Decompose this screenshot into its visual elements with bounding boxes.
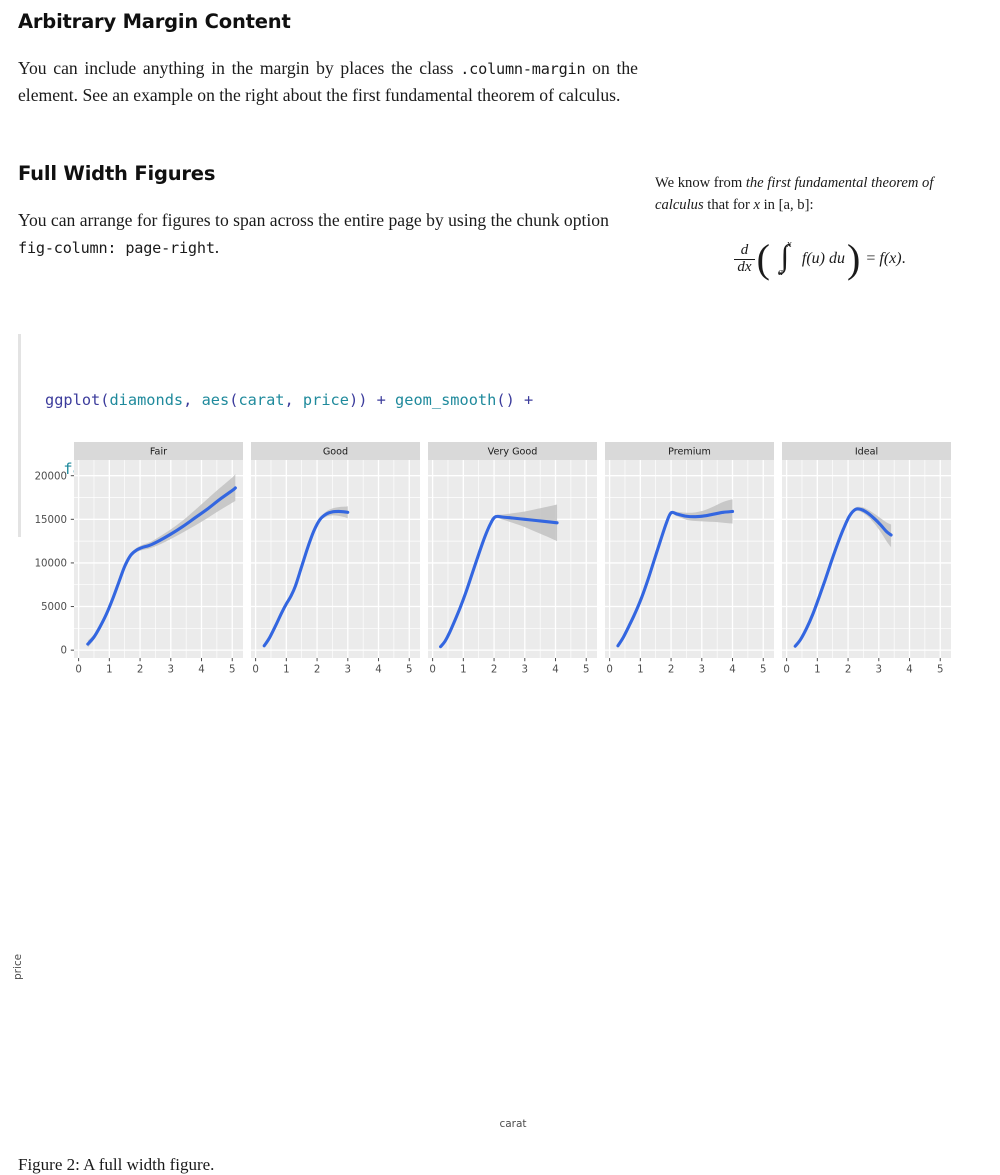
x-axis-tick-label: 5: [583, 665, 589, 676]
margin-note-interval: [a, b]: [779, 197, 810, 213]
section-heading-full-width-figures: Full Width Figures: [18, 162, 638, 185]
code-token-arg: aes: [202, 391, 230, 409]
formula-integrand: f(u) du: [802, 247, 845, 271]
formula-derivative-operator: d dx: [734, 243, 754, 276]
x-axis-tick-label: 2: [845, 665, 851, 676]
formula-period: .: [902, 247, 906, 271]
formula-d-numerator: d: [738, 243, 752, 259]
x-axis-tick-label: 5: [229, 665, 235, 676]
x-axis-tick-label: 3: [699, 665, 705, 676]
x-axis-tick-label: 0: [783, 665, 789, 676]
x-axis-tick-label: 0: [429, 665, 435, 676]
paragraph-margin-content: You can include anything in the margin b…: [18, 55, 638, 108]
margin-note-lead-2: that for: [704, 197, 754, 213]
y-axis-tick-label: 0: [61, 646, 67, 657]
facet-strip-label: Ideal: [855, 447, 878, 458]
code-token-fn: ggplot(: [45, 391, 109, 409]
margin-note-colon: :: [809, 197, 813, 213]
margin-note: We know from the first fundamental theor…: [655, 172, 985, 276]
formula-close-paren: ): [847, 243, 860, 276]
margin-note-lead: We know from: [655, 175, 746, 191]
margin-note-lead-3: in: [760, 197, 779, 213]
paragraph-text-part: You can arrange for figures to span acro…: [18, 210, 609, 230]
x-axis-tick-label: 1: [637, 665, 643, 676]
section-heading-margin-content: Arbitrary Margin Content: [18, 10, 638, 33]
x-axis-tick-label: 4: [729, 665, 735, 676]
chart-y-axis-label: price: [12, 954, 24, 980]
formula-rhs: f(x): [879, 247, 901, 271]
x-axis-tick-label: 3: [345, 665, 351, 676]
formula-open-paren: (: [757, 243, 770, 276]
y-axis-tick-label: 5000: [41, 602, 67, 613]
y-axis-tick-label: 15000: [35, 515, 67, 526]
inline-code-fig-column: fig-column: page-right: [18, 239, 215, 257]
x-axis-tick-label: 2: [668, 665, 674, 676]
integral-lower-limit: a: [778, 265, 783, 281]
x-axis-tick-label: 2: [491, 665, 497, 676]
code-token-fn: ,: [183, 391, 201, 409]
x-axis-tick-label: 0: [606, 665, 612, 676]
body-column: Arbitrary Margin Content You can include…: [18, 10, 638, 261]
x-axis-tick-label: 1: [283, 665, 289, 676]
inline-code-column-margin: .column-margin: [460, 60, 585, 78]
x-axis-tick-label: 4: [198, 665, 204, 676]
x-axis-tick-label: 4: [375, 665, 381, 676]
margin-note-formula: d dx ( ∫ x a f(u) du ) = f(x).: [655, 238, 985, 276]
integral-upper-limit: x: [787, 237, 792, 253]
margin-note-text: We know from the first fundamental theor…: [655, 172, 985, 216]
paragraph-full-width-figures: You can arrange for figures to span acro…: [18, 207, 638, 260]
code-line: ggplot(diamonds, aes(carat, price)) + ge…: [45, 389, 666, 412]
code-token-fn: ,: [285, 391, 303, 409]
x-axis-tick-label: 3: [876, 665, 882, 676]
facet-strip-label: Very Good: [488, 447, 538, 458]
x-axis-tick-label: 2: [314, 665, 320, 676]
x-axis-tick-label: 4: [906, 665, 912, 676]
x-axis-tick-label: 5: [406, 665, 412, 676]
facet-strip-label: Fair: [150, 447, 167, 458]
code-token-arg: carat: [238, 391, 284, 409]
y-axis-tick-label: 20000: [35, 471, 67, 482]
y-axis-tick-label: 10000: [35, 559, 67, 570]
x-axis-tick-label: 5: [937, 665, 943, 676]
code-token-arg: price: [303, 391, 349, 409]
chart-canvas: Fair01234505000100001500020000Good012345…: [0, 440, 1000, 680]
paragraph-text-part: .: [215, 237, 219, 257]
x-axis-tick-label: 1: [460, 665, 466, 676]
formula-equals: =: [866, 247, 875, 271]
figure-caption: Figure 2: A full width figure.: [18, 1155, 214, 1175]
x-axis-tick-label: 0: [252, 665, 258, 676]
x-axis-tick-label: 2: [137, 665, 143, 676]
x-axis-tick-label: 1: [814, 665, 820, 676]
figure-full-width: Fair01234505000100001500020000Good012345…: [0, 440, 1000, 680]
facet-line-chart: Fair01234505000100001500020000Good012345…: [0, 440, 1000, 680]
chart-x-axis-label: carat: [0, 1118, 1000, 1130]
x-axis-tick-label: 5: [760, 665, 766, 676]
x-axis-tick-label: 3: [168, 665, 174, 676]
code-token-arg: diamonds: [109, 391, 183, 409]
facet-strip-label: Premium: [668, 447, 711, 458]
paragraph-text-part: You can include anything in the margin b…: [18, 58, 460, 78]
x-axis-tick-label: 0: [75, 665, 81, 676]
x-axis-tick-label: 4: [552, 665, 558, 676]
x-axis-tick-label: 3: [522, 665, 528, 676]
code-token-fn: )) +: [349, 391, 395, 409]
formula-d-denominator: dx: [734, 259, 754, 276]
code-token-fn: () +: [496, 391, 533, 409]
margin-note-emphasis-1: the first fundamental: [746, 175, 868, 191]
code-token-arg: geom_smooth: [395, 391, 496, 409]
x-axis-tick-label: 1: [106, 665, 112, 676]
facet-strip-label: Good: [323, 447, 348, 458]
formula-integral: ∫ x a: [772, 244, 798, 274]
document-page: Arbitrary Margin Content You can include…: [0, 0, 1000, 749]
